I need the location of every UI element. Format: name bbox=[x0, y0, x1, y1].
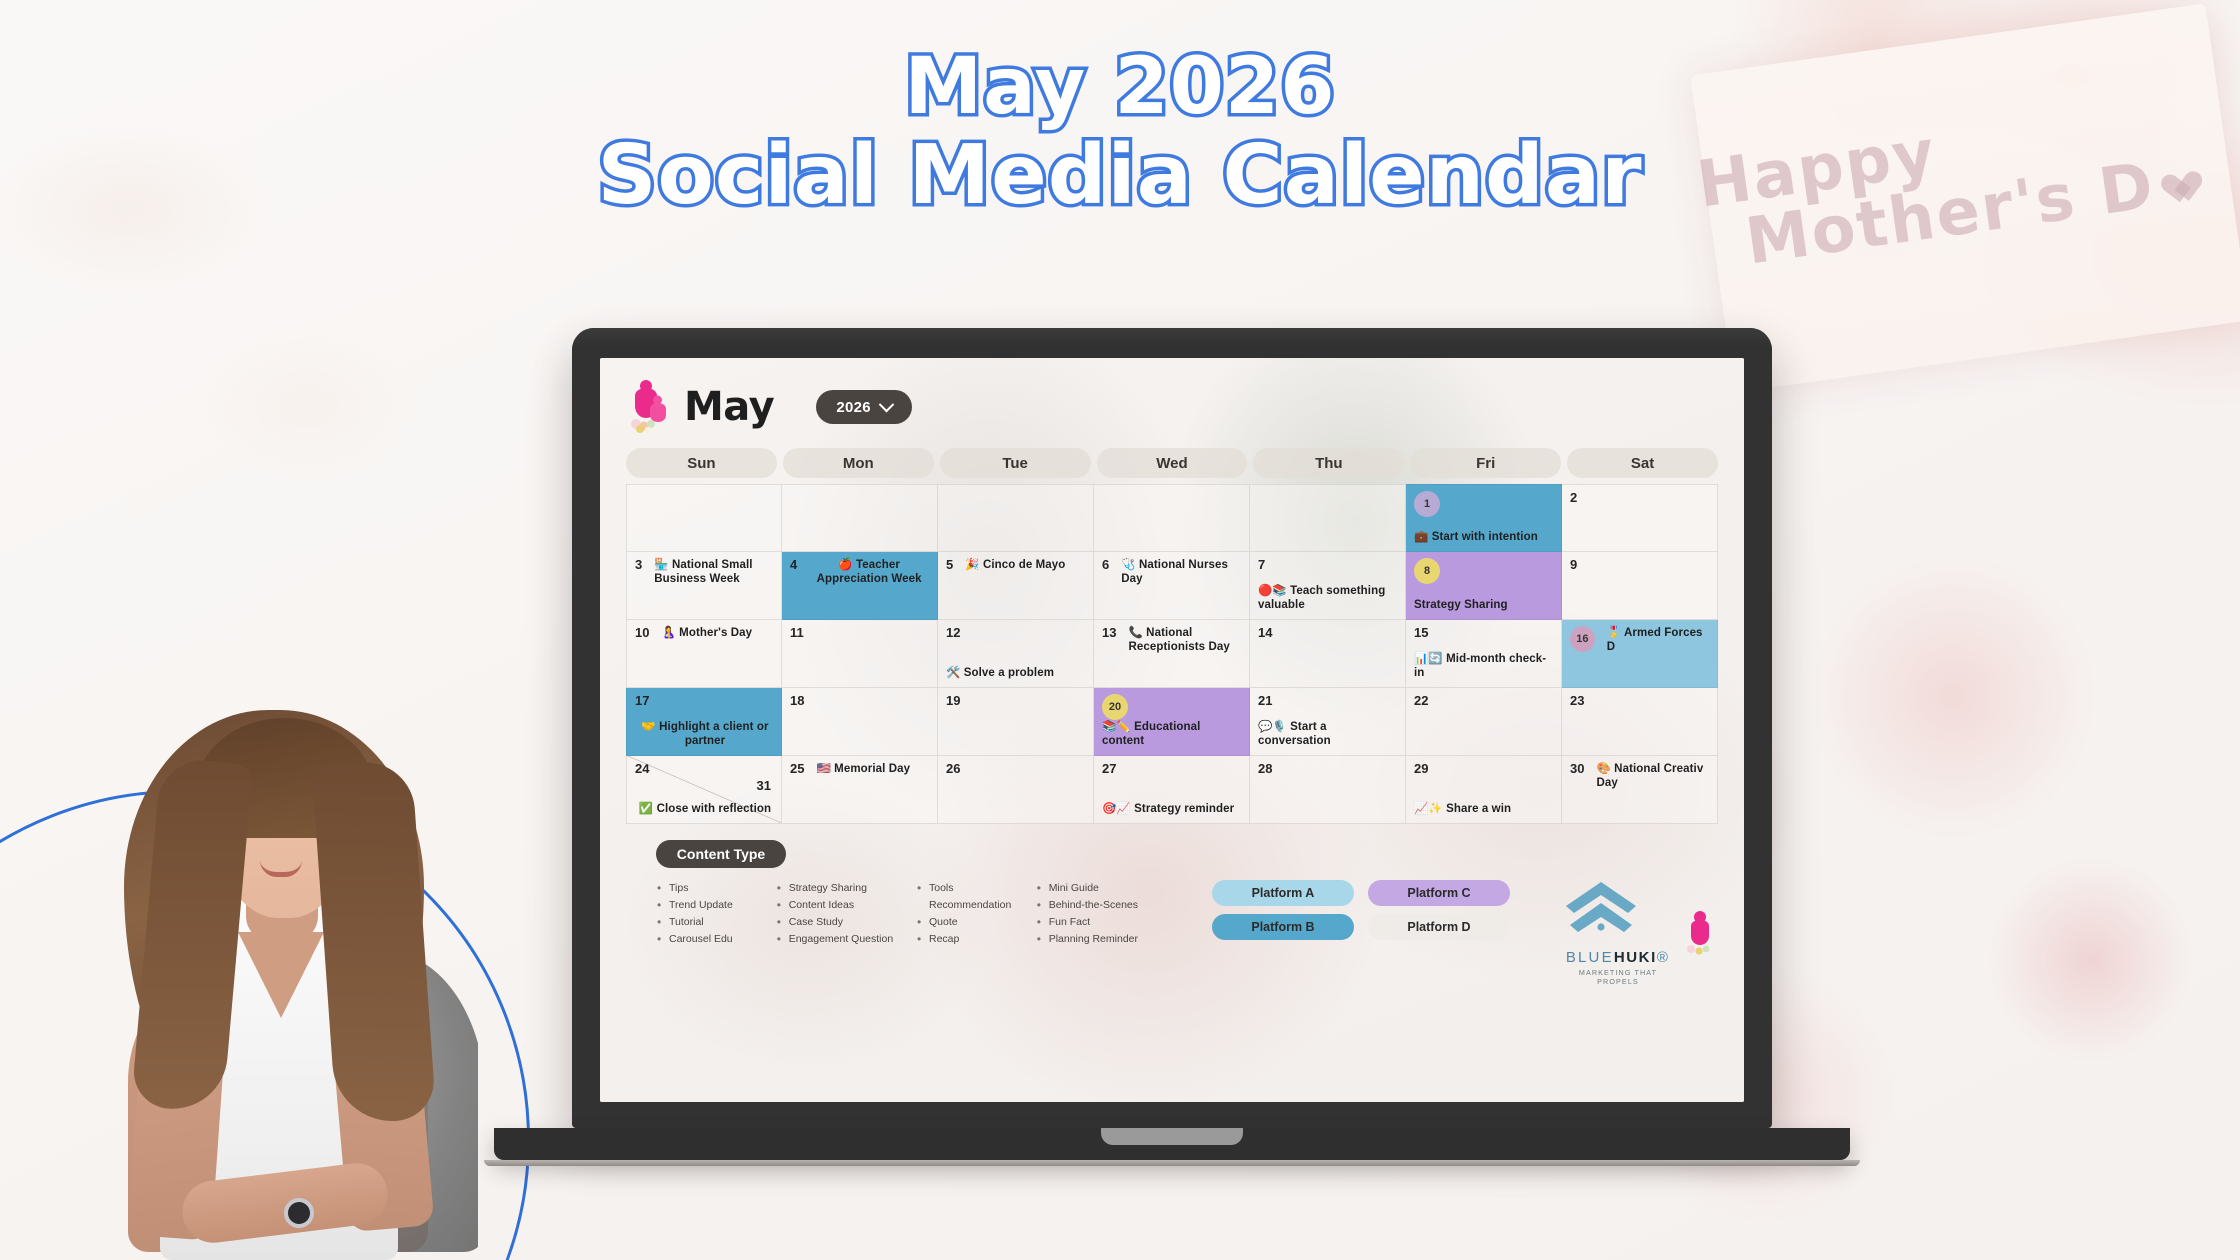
day-number: 3 bbox=[635, 558, 642, 571]
cell-event-label: 💬🎙️ Start a conversation bbox=[1258, 720, 1399, 748]
calendar-cell-empty bbox=[782, 484, 938, 552]
calendar-cell-day-11[interactable]: 11 bbox=[782, 620, 938, 688]
poster-title: May 2026 Social Media Calendar bbox=[0, 48, 2240, 217]
legend-item: Recap bbox=[916, 931, 1036, 948]
calendar-cell-empty bbox=[1094, 484, 1250, 552]
day-number: 5 bbox=[946, 558, 953, 571]
day-number: 11 bbox=[790, 626, 804, 639]
legend-column: Strategy SharingContent IdeasCase StudyE… bbox=[776, 880, 916, 948]
cell-top-row: 9 bbox=[1570, 558, 1709, 571]
cell-top-row: 13📞 National Receptionists Day bbox=[1102, 626, 1241, 654]
day-number: 28 bbox=[1258, 762, 1272, 775]
laptop-lid: May 2026 SunMonTueWedThuFriSat 1💼 Start … bbox=[572, 328, 1772, 1128]
legend-item: Case Study bbox=[776, 914, 916, 931]
laptop-base bbox=[494, 1128, 1850, 1160]
calendar-cell-day-20[interactable]: 20📚✏️ Educational content bbox=[1094, 688, 1250, 756]
cell-top-row: 27 bbox=[1102, 762, 1241, 775]
day-number: 27 bbox=[1102, 762, 1116, 775]
day-number: 23 bbox=[1570, 694, 1584, 707]
cell-event-label: 🎉 Cinco de Mayo bbox=[965, 558, 1065, 572]
legend-item: Tips bbox=[656, 880, 776, 897]
cell-event-label: 🛠️ Solve a problem bbox=[946, 666, 1087, 680]
legend-item: Tutorial bbox=[656, 914, 776, 931]
cell-top-row: 18 bbox=[790, 694, 929, 707]
legend-item: Planning Reminder bbox=[1036, 931, 1176, 948]
chevron-down-icon bbox=[879, 396, 895, 412]
legend-item: Behind-the-Scenes bbox=[1036, 897, 1176, 914]
brand-logo: BLUEHUKI® MARKETING THAT PROPELS bbox=[1562, 880, 1718, 986]
day-number: 13 bbox=[1102, 626, 1116, 639]
title-line-2: Social Media Calendar bbox=[0, 134, 2240, 218]
calendar-cell-empty bbox=[938, 484, 1094, 552]
calendar-cell-day-17[interactable]: 17🤝 Highlight a client or partner bbox=[626, 688, 782, 756]
cell-event-label: 🤱 Mother's Day bbox=[661, 626, 752, 640]
cell-top-row: 20 bbox=[1102, 694, 1241, 720]
day-number: 29 bbox=[1414, 762, 1428, 775]
laptop-foot bbox=[484, 1160, 1860, 1166]
legend-item: Strategy Sharing bbox=[776, 880, 916, 897]
cell-top-row: 24 bbox=[635, 762, 773, 775]
calendar-cell-day-22[interactable]: 22 bbox=[1406, 688, 1562, 756]
cell-event-label: 🤝 Highlight a client or partner bbox=[635, 720, 775, 748]
calendar-cell-day-27[interactable]: 27🎯📈 Strategy reminder bbox=[1094, 756, 1250, 824]
cell-event-label: 📚✏️ Educational content bbox=[1102, 720, 1243, 748]
legend-item: Carousel Edu bbox=[656, 931, 776, 948]
cell-top-row: 4🍎 Teacher Appreciation Week bbox=[790, 558, 929, 586]
calendar-cell-empty bbox=[626, 484, 782, 552]
cell-event-label: 🍎 Teacher Appreciation Week bbox=[809, 558, 929, 586]
calendar-header: May 2026 bbox=[626, 380, 1718, 434]
calendar-cell-day-28[interactable]: 28 bbox=[1250, 756, 1406, 824]
platform-button-b[interactable]: Platform B bbox=[1212, 914, 1354, 940]
day-number-badge: 1 bbox=[1414, 491, 1440, 517]
cell-top-row: 15 bbox=[1414, 626, 1553, 639]
calendar-cell-day-6[interactable]: 6🩺 National Nurses Day bbox=[1094, 552, 1250, 620]
platform-button-c[interactable]: Platform C bbox=[1368, 880, 1510, 906]
calendar-cell-day-26[interactable]: 26 bbox=[938, 756, 1094, 824]
weekday-header-tue: Tue bbox=[940, 448, 1091, 478]
content-type-pill[interactable]: Content Type bbox=[656, 840, 786, 868]
day-number: 21 bbox=[1258, 694, 1272, 707]
day-number: 12 bbox=[946, 626, 960, 639]
calendar-cell-day-8[interactable]: 8Strategy Sharing bbox=[1406, 552, 1562, 620]
calendar-cell-day-23[interactable]: 23 bbox=[1562, 688, 1718, 756]
laptop-screen: May 2026 SunMonTueWedThuFriSat 1💼 Start … bbox=[600, 358, 1744, 1102]
legend-body: TipsTrend UpdateTutorialCarousel Edu Str… bbox=[626, 880, 1718, 986]
legend-column: Tools RecommendationQuoteRecap bbox=[916, 880, 1036, 948]
weekday-header-sat: Sat bbox=[1567, 448, 1718, 478]
cell-top-row: 11 bbox=[790, 626, 929, 639]
cell-top-row: 8 bbox=[1414, 558, 1553, 584]
legend-item: Fun Fact bbox=[1036, 914, 1176, 931]
calendar-cell-day-5[interactable]: 5🎉 Cinco de Mayo bbox=[938, 552, 1094, 620]
legend-item: Quote bbox=[916, 914, 1036, 931]
calendar-cell-day-21[interactable]: 21💬🎙️ Start a conversation bbox=[1250, 688, 1406, 756]
legend-section: Content Type TipsTrend UpdateTutorialCar… bbox=[626, 840, 1718, 986]
weekday-header-fri: Fri bbox=[1410, 448, 1561, 478]
cell-top-row: 22 bbox=[1414, 694, 1553, 707]
cell-event-label: 🔴📚 Teach something valuable bbox=[1258, 584, 1399, 612]
calendar-cell-day-12[interactable]: 12🛠️ Solve a problem bbox=[938, 620, 1094, 688]
calendar-cell-day-25[interactable]: 25🇺🇸 Memorial Day bbox=[782, 756, 938, 824]
mother-and-child-icon-small bbox=[1684, 910, 1718, 956]
day-number: 24 bbox=[635, 762, 649, 775]
title-line-1: May 2026 bbox=[0, 48, 2240, 128]
legend-item: Mini Guide bbox=[1036, 880, 1176, 897]
calendar-cell-day-19[interactable]: 19 bbox=[938, 688, 1094, 756]
day-number: 30 bbox=[1570, 762, 1584, 775]
day-number: 14 bbox=[1258, 626, 1272, 639]
cell-top-row: 5🎉 Cinco de Mayo bbox=[946, 558, 1085, 572]
laptop-mockup: May 2026 SunMonTueWedThuFriSat 1💼 Start … bbox=[572, 328, 1772, 1128]
calendar-grid: 1💼 Start with intention23🏪 National Smal… bbox=[626, 484, 1718, 824]
legend-column: TipsTrend UpdateTutorialCarousel Edu bbox=[656, 880, 776, 948]
mother-and-child-icon bbox=[626, 380, 674, 434]
calendar-cell-day-18[interactable]: 18 bbox=[782, 688, 938, 756]
year-selector-value: 2026 bbox=[836, 399, 871, 416]
legend-item: Engagement Question bbox=[776, 931, 916, 948]
presenter-photo bbox=[88, 702, 478, 1260]
cell-event-label: 🩺 National Nurses Day bbox=[1121, 558, 1241, 586]
day-number: 26 bbox=[946, 762, 960, 775]
calendar-cell-empty bbox=[1250, 484, 1406, 552]
calendar-cell-day-30[interactable]: 30🎨 National Creativ Day bbox=[1562, 756, 1718, 824]
cell-event-label: 🇺🇸 Memorial Day bbox=[816, 762, 910, 776]
calendar-cell-day-3[interactable]: 3🏪 National Small Business Week bbox=[626, 552, 782, 620]
cell-top-row: 29 bbox=[1414, 762, 1553, 775]
platform-buttons: Platform APlatform CPlatform BPlatform D bbox=[1212, 880, 1510, 940]
calendar-cell-day-29[interactable]: 29📈✨ Share a win bbox=[1406, 756, 1562, 824]
laptop-trackpad-notch bbox=[1101, 1128, 1243, 1145]
calendar-cell-day-10[interactable]: 10🤱 Mother's Day bbox=[626, 620, 782, 688]
day-number: 9 bbox=[1570, 558, 1577, 571]
brand-name-bold: HUKI bbox=[1614, 949, 1657, 966]
day-number: 19 bbox=[946, 694, 960, 707]
weekday-header-mon: Mon bbox=[783, 448, 934, 478]
weekday-header-thu: Thu bbox=[1253, 448, 1404, 478]
cell-event-label: 📈✨ Share a win bbox=[1414, 802, 1555, 816]
cell-top-row: 19 bbox=[946, 694, 1085, 707]
platform-button-d[interactable]: Platform D bbox=[1368, 914, 1510, 940]
cell-event-label: Strategy Sharing bbox=[1414, 598, 1555, 612]
calendar-cell-day-16[interactable]: 16🎖️ Armed Forces D bbox=[1562, 620, 1718, 688]
cell-top-row: 23 bbox=[1570, 694, 1709, 707]
cell-event-label: 🎯📈 Strategy reminder bbox=[1102, 802, 1243, 816]
cell-event-label: 🎨 National Creativ Day bbox=[1596, 762, 1709, 790]
day-number: 15 bbox=[1414, 626, 1428, 639]
cell-top-row: 25🇺🇸 Memorial Day bbox=[790, 762, 929, 776]
day-number: 18 bbox=[790, 694, 804, 707]
day-number-badge: 16 bbox=[1570, 626, 1595, 652]
cell-top-row: 6🩺 National Nurses Day bbox=[1102, 558, 1241, 586]
day-number: 4 bbox=[790, 558, 797, 571]
cell-top-row: 7 bbox=[1258, 558, 1397, 571]
cell-event-label: 🏪 National Small Business Week bbox=[654, 558, 773, 586]
weekday-header-row: SunMonTueWedThuFriSat bbox=[626, 448, 1718, 478]
brand-registered-mark: ® bbox=[1657, 949, 1670, 966]
brand-tagline: MARKETING THAT PROPELS bbox=[1562, 968, 1674, 986]
cell-event-label: 💼 Start with intention bbox=[1414, 530, 1555, 544]
cell-top-row: 16🎖️ Armed Forces D bbox=[1570, 626, 1709, 654]
calendar-cell-day-7[interactable]: 7🔴📚 Teach something valuable bbox=[1250, 552, 1406, 620]
legend-column: Mini GuideBehind-the-ScenesFun FactPlann… bbox=[1036, 880, 1176, 948]
cell-top-row: 2 bbox=[1570, 491, 1709, 504]
calendar-cell-day-15[interactable]: 15📊🔄 Mid-month check-in bbox=[1406, 620, 1562, 688]
day-number: 25 bbox=[790, 762, 804, 775]
day-number: 17 bbox=[635, 694, 649, 707]
legend-item: Content Ideas bbox=[776, 897, 916, 914]
legend-item: Trend Update bbox=[656, 897, 776, 914]
year-selector[interactable]: 2026 bbox=[816, 390, 912, 424]
brand-name-light: BLUE bbox=[1566, 949, 1614, 966]
day-number: 6 bbox=[1102, 558, 1109, 571]
calendar-cell-day-2[interactable]: 2 bbox=[1562, 484, 1718, 552]
cell-top-row: 21 bbox=[1258, 694, 1397, 707]
cell-top-row: 28 bbox=[1258, 762, 1397, 775]
calendar-cell-day-9[interactable]: 9 bbox=[1562, 552, 1718, 620]
calendar-cell-day-4[interactable]: 4🍎 Teacher Appreciation Week bbox=[782, 552, 938, 620]
cell-top-row: 26 bbox=[946, 762, 1085, 775]
cell-event-label: 📊🔄 Mid-month check-in bbox=[1414, 652, 1555, 680]
cell-top-row: 1 bbox=[1414, 491, 1553, 517]
cell-event-label: 📞 National Receptionists Day bbox=[1128, 626, 1241, 654]
day-number-badge: 8 bbox=[1414, 558, 1440, 584]
weekday-header-sun: Sun bbox=[626, 448, 777, 478]
cell-top-row: 12 bbox=[946, 626, 1085, 639]
day-number: 22 bbox=[1414, 694, 1428, 707]
calendar-cell-day-14[interactable]: 14 bbox=[1250, 620, 1406, 688]
cell-top-row: 30🎨 National Creativ Day bbox=[1570, 762, 1709, 790]
weekday-header-wed: Wed bbox=[1097, 448, 1248, 478]
day-number: 7 bbox=[1258, 558, 1265, 571]
chevron-stack-icon bbox=[1562, 880, 1640, 947]
cell-top-row: 10🤱 Mother's Day bbox=[635, 626, 773, 640]
platform-button-a[interactable]: Platform A bbox=[1212, 880, 1354, 906]
calendar-month-label: May bbox=[684, 384, 774, 430]
cell-event-label: ✅ Close with reflection bbox=[635, 802, 775, 816]
cell-top-row: 17 bbox=[635, 694, 773, 707]
day-number-secondary: 31 bbox=[757, 778, 771, 793]
legend-item: Tools Recommendation bbox=[916, 880, 1036, 914]
cell-event-label: 🎖️ Armed Forces D bbox=[1607, 626, 1709, 654]
day-number-badge: 20 bbox=[1102, 694, 1128, 720]
cell-top-row: 3🏪 National Small Business Week bbox=[635, 558, 773, 586]
day-number: 10 bbox=[635, 626, 649, 639]
calendar-app: May 2026 SunMonTueWedThuFriSat 1💼 Start … bbox=[600, 358, 1744, 1102]
calendar-cell-day-1[interactable]: 1💼 Start with intention bbox=[1406, 484, 1562, 552]
calendar-cell-day-13[interactable]: 13📞 National Receptionists Day bbox=[1094, 620, 1250, 688]
calendar-cell-day-24[interactable]: 2431✅ Close with reflection bbox=[626, 756, 782, 824]
day-number: 2 bbox=[1570, 491, 1577, 504]
cell-top-row: 14 bbox=[1258, 626, 1397, 639]
